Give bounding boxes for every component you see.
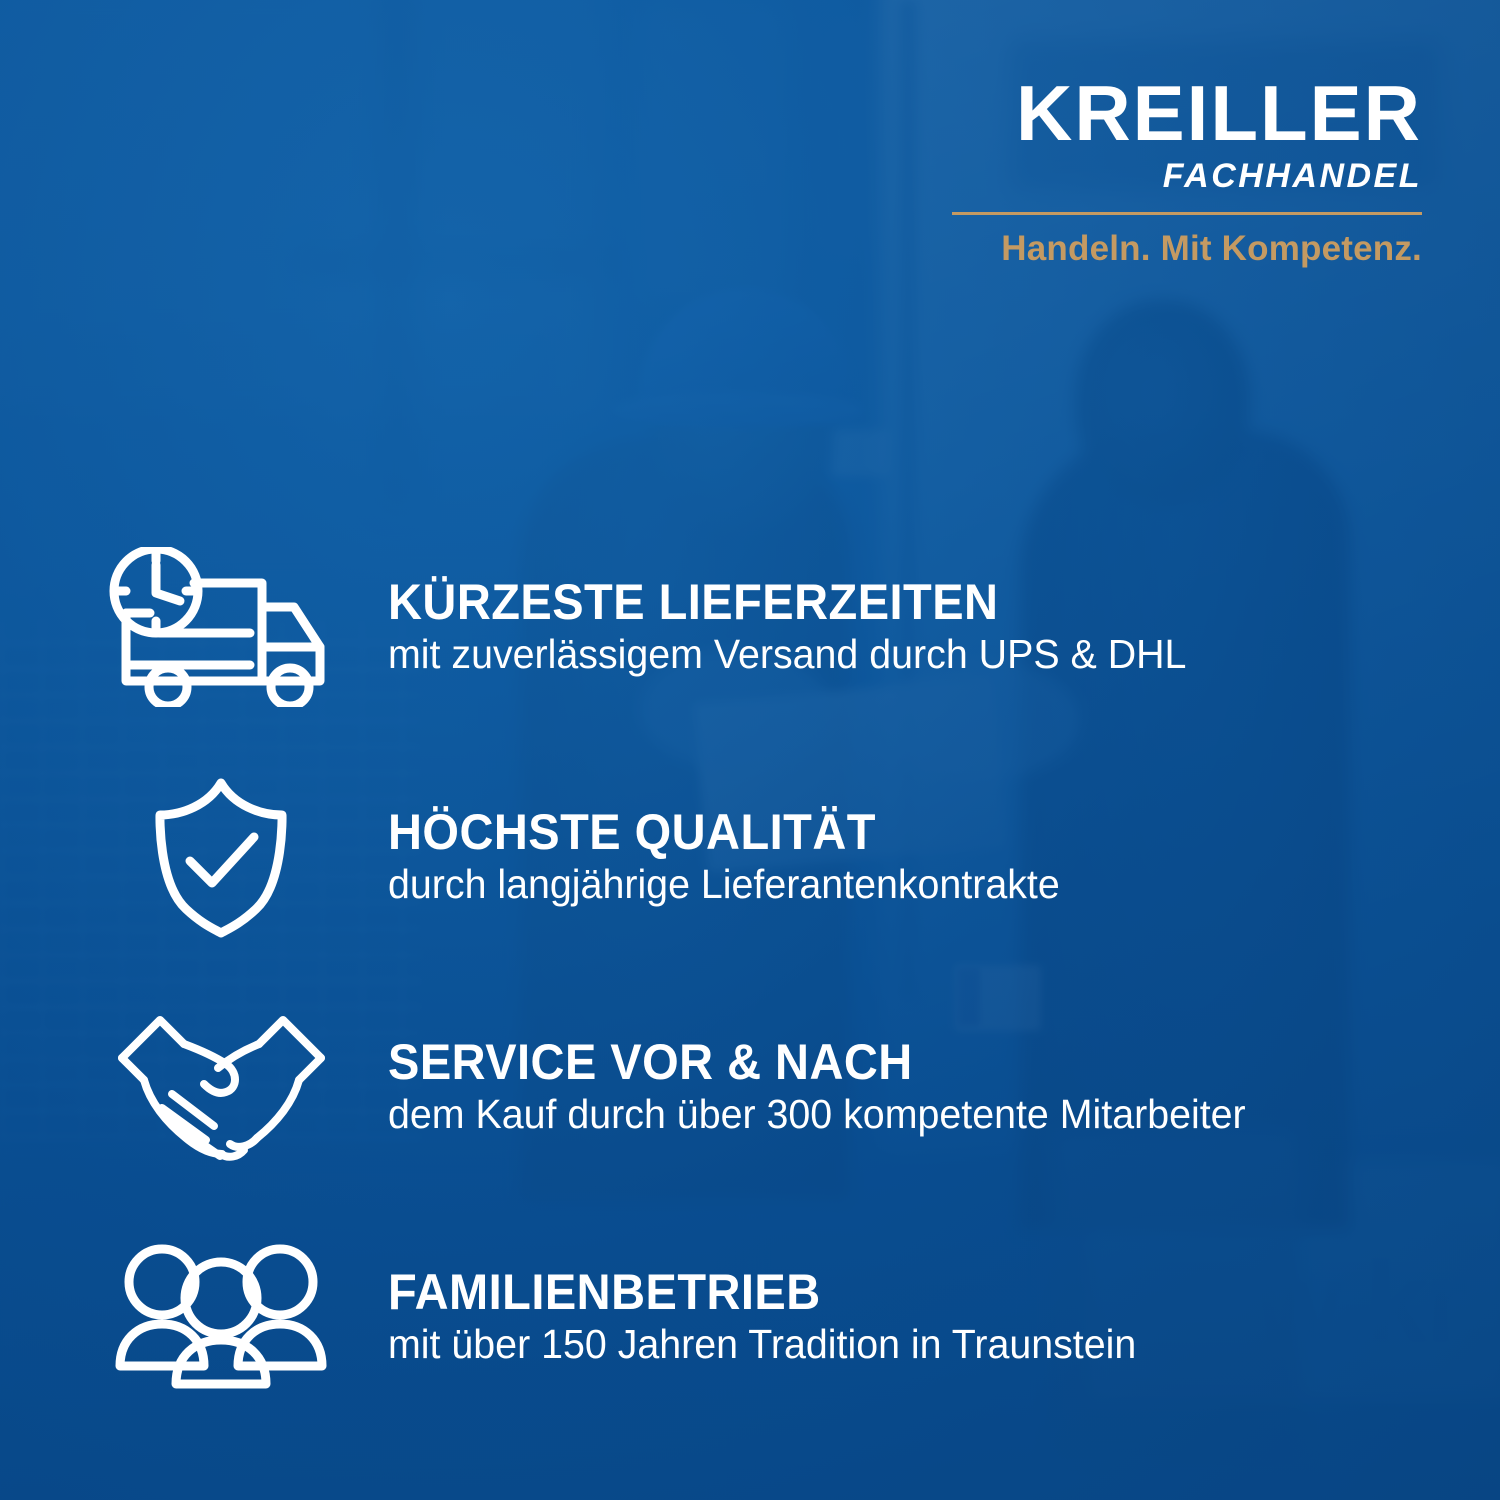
feature-subtitle: durch langjährige Lieferantenkontrakte xyxy=(388,862,1394,908)
brand-name: KREILLER xyxy=(952,76,1422,151)
brand-divider xyxy=(952,212,1422,215)
brand-logo: KREILLER FACHHANDEL Handeln. Mit Kompete… xyxy=(952,76,1422,269)
feature-subtitle: dem Kauf durch über 300 kompetente Mitar… xyxy=(388,1092,1394,1138)
feature-text-family: FAMILIENBETRIEB mit über 150 Jahren Trad… xyxy=(346,1266,1436,1368)
brand-claim: Handeln. Mit Kompetenz. xyxy=(952,229,1422,269)
people-group-icon xyxy=(96,1242,346,1392)
shield-check-icon xyxy=(96,775,346,940)
feature-item-delivery: KÜRZESTE LIEFERZEITEN mit zuverlässigem … xyxy=(96,512,1436,742)
poster-content: KREILLER FACHHANDEL Handeln. Mit Kompete… xyxy=(0,0,1500,1500)
feature-title: KÜRZESTE LIEFERZEITEN xyxy=(388,576,1373,629)
feature-text-quality: HÖCHSTE QUALITÄT durch langjährige Liefe… xyxy=(346,806,1436,908)
feature-list: KÜRZESTE LIEFERZEITEN mit zuverlässigem … xyxy=(96,512,1436,1432)
promo-poster: w.kr KREILLER FACHHANDEL Handeln. Mit Ko… xyxy=(0,0,1500,1500)
feature-title: HÖCHSTE QUALITÄT xyxy=(388,806,1373,859)
feature-subtitle: mit über 150 Jahren Tradition in Traunst… xyxy=(388,1322,1394,1368)
delivery-truck-clock-icon xyxy=(96,547,346,707)
handshake-icon xyxy=(96,1002,346,1172)
feature-text-delivery: KÜRZESTE LIEFERZEITEN mit zuverlässigem … xyxy=(346,576,1436,678)
brand-subtitle: FACHHANDEL xyxy=(952,157,1422,196)
feature-title: SERVICE VOR & NACH xyxy=(388,1036,1373,1089)
feature-title: FAMILIENBETRIEB xyxy=(388,1266,1373,1319)
feature-subtitle: mit zuverlässigem Versand durch UPS & DH… xyxy=(388,632,1394,678)
feature-item-family: FAMILIENBETRIEB mit über 150 Jahren Trad… xyxy=(96,1202,1436,1432)
feature-item-service: SERVICE VOR & NACH dem Kauf durch über 3… xyxy=(96,972,1436,1202)
feature-text-service: SERVICE VOR & NACH dem Kauf durch über 3… xyxy=(346,1036,1436,1138)
feature-item-quality: HÖCHSTE QUALITÄT durch langjährige Liefe… xyxy=(96,742,1436,972)
